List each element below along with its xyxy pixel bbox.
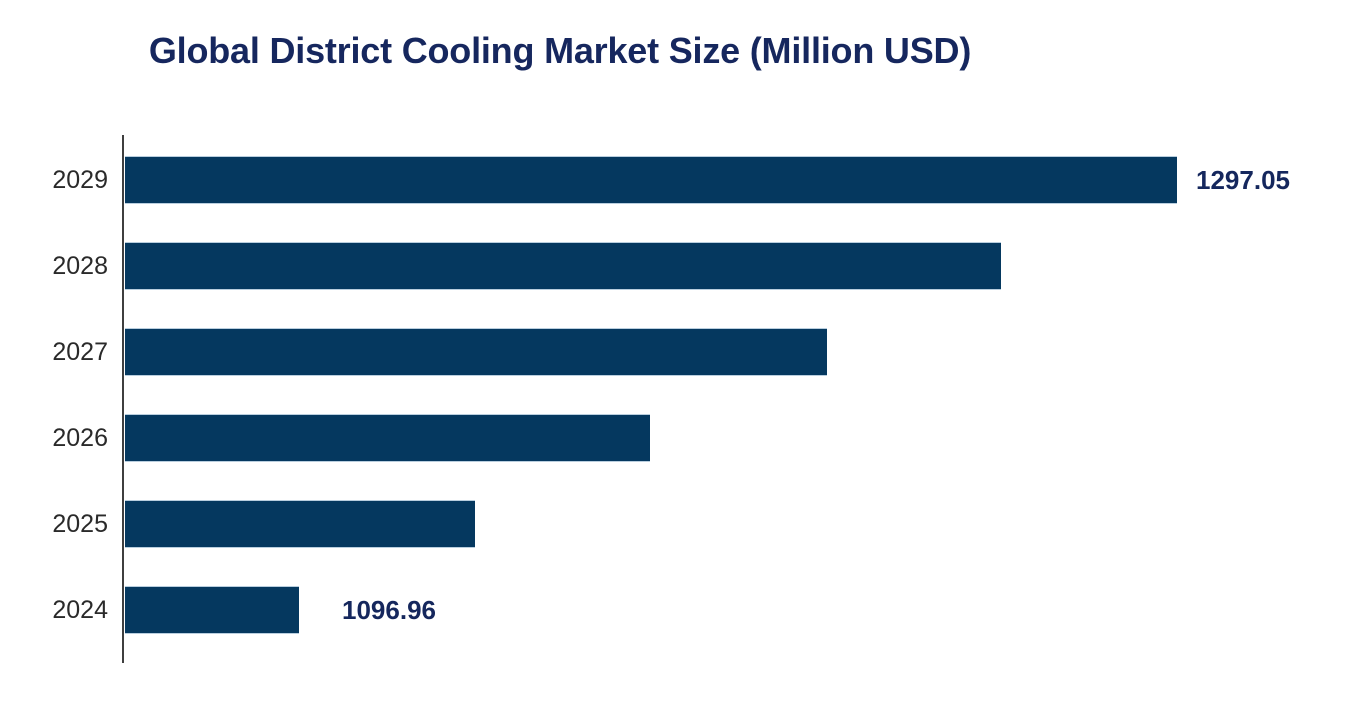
y-axis-tick-label: 2028	[0, 242, 108, 290]
y-axis-tick-label: 2027	[0, 328, 108, 376]
bar-value-label: 1096.96	[342, 586, 436, 634]
y-axis-tick-label: 2024	[0, 586, 108, 634]
bar-2028	[125, 242, 1001, 290]
bar-row: 20291297.05	[0, 156, 1361, 204]
bar-2025	[125, 500, 475, 548]
bar-2024	[125, 586, 299, 634]
bar-value-label: 1297.05	[1196, 156, 1290, 204]
y-axis-tick-label: 2026	[0, 414, 108, 462]
y-axis-tick-label: 2029	[0, 156, 108, 204]
bar-row: 20241096.96	[0, 586, 1361, 634]
chart-figure: Global District Cooling Market Size (Mil…	[0, 0, 1361, 703]
plot-area: 20291297.05202820272026202520241096.96	[0, 0, 1361, 703]
bar-2029	[125, 156, 1177, 204]
y-axis-line	[122, 135, 124, 663]
bar-2027	[125, 328, 827, 376]
bar-2026	[125, 414, 650, 462]
bar-row: 2027	[0, 328, 1361, 376]
bar-row: 2026	[0, 414, 1361, 462]
bar-row: 2025	[0, 500, 1361, 548]
bar-row: 2028	[0, 242, 1361, 290]
y-axis-tick-label: 2025	[0, 500, 108, 548]
